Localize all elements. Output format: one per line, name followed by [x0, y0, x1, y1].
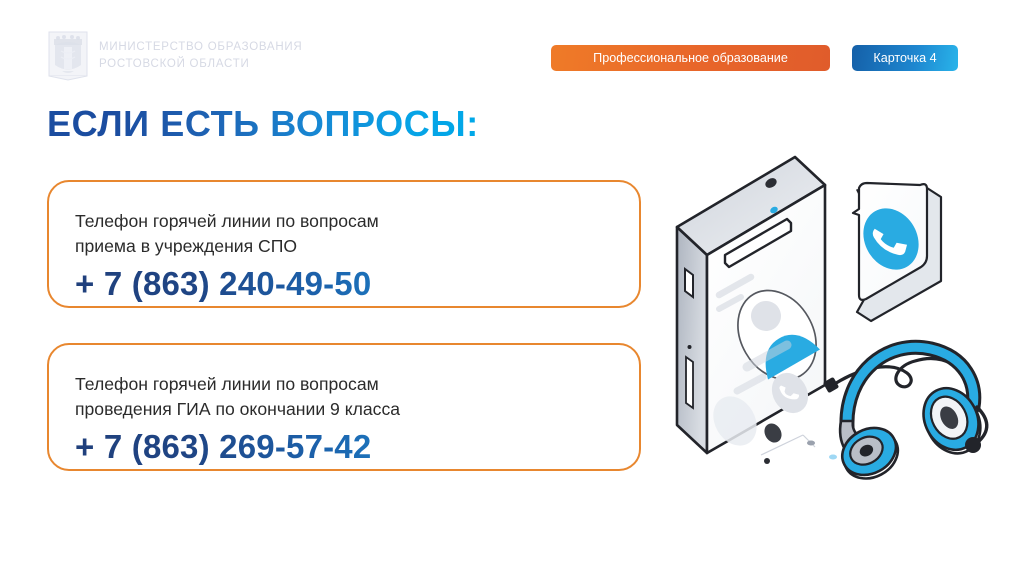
contact-description-line-2: приема в учреждения СПО — [75, 234, 613, 259]
smartphone-icon — [677, 157, 837, 464]
contact-box-spo: Телефон горячей линии по вопросам приема… — [47, 180, 641, 308]
contact-description-line-2: проведения ГИА по окончании 9 класса — [75, 397, 613, 422]
contact-box-gia: Телефон горячей линии по вопросам провед… — [47, 343, 641, 471]
call-bubble-icon — [852, 183, 941, 321]
phone-number-gia[interactable]: + 7 (863) 269-57-42 — [75, 429, 613, 465]
badge-category: Профессиональное образование — [551, 45, 830, 71]
contact-description-line-1: Телефон горячей линии по вопросам — [75, 209, 613, 234]
ministry-title: МИНИСТЕРСТВО ОБРАЗОВАНИЯ РОСТОВСКОЙ ОБЛА… — [99, 41, 302, 71]
ministry-line-2: РОСТОВСКОЙ ОБЛАСТИ — [99, 58, 302, 72]
headset-icon — [834, 347, 991, 485]
ministry-logo-block: МИНИСТЕРСТВО ОБРАЗОВАНИЯ РОСТОВСКОЙ ОБЛА… — [48, 31, 302, 81]
contact-description-line-1: Телефон горячей линии по вопросам — [75, 372, 613, 397]
rostov-region-coat-of-arms-icon — [48, 31, 88, 81]
isometric-hotline-illustration — [655, 135, 1005, 485]
badge-card-number: Карточка 4 — [852, 45, 958, 71]
phone-number-spo[interactable]: + 7 (863) 240-49-50 — [75, 266, 613, 302]
ministry-line-1: МИНИСТЕРСТВО ОБРАЗОВАНИЯ — [99, 41, 302, 55]
page-title: ЕСЛИ ЕСТЬ ВОПРОСЫ: — [47, 104, 479, 144]
